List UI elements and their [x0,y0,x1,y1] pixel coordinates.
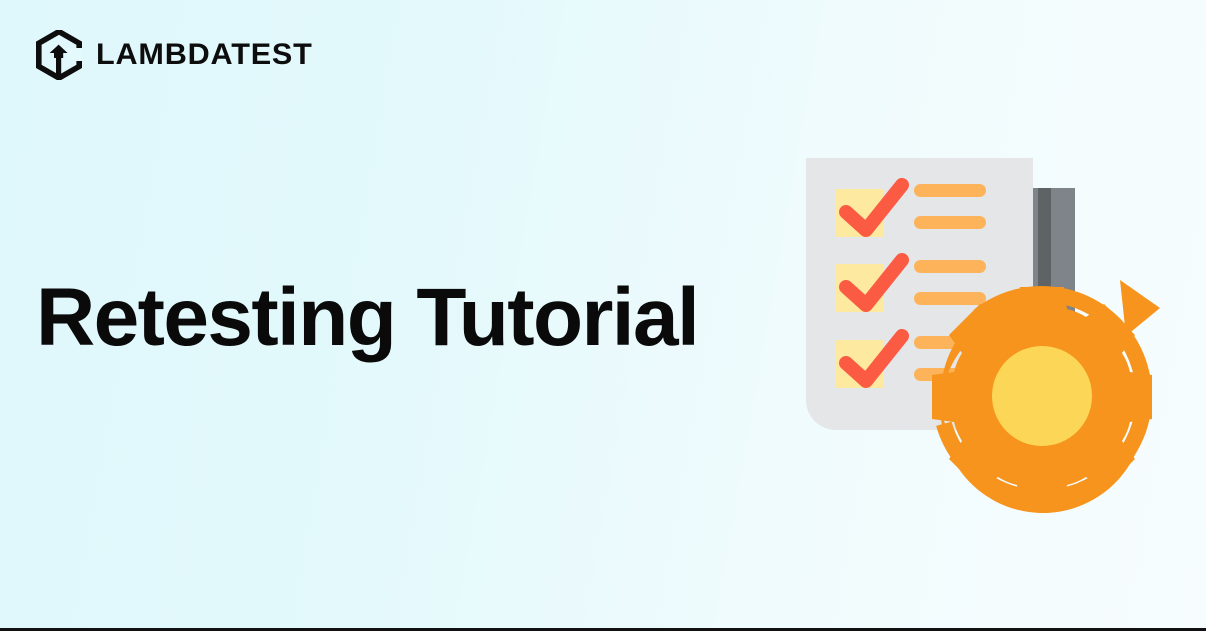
brand-name: LAMBDATEST [96,40,313,70]
page-title: Retesting Tutorial [36,270,698,366]
lambdatest-hexagon-arrow-logo-icon [36,30,82,80]
banner: LAMBDATEST Retesting Tutorial [0,0,1206,631]
brand-logo[interactable]: LAMBDATEST [36,30,308,80]
gear-icon [932,287,1152,507]
retesting-checklist-gear-illustration [790,140,1180,520]
